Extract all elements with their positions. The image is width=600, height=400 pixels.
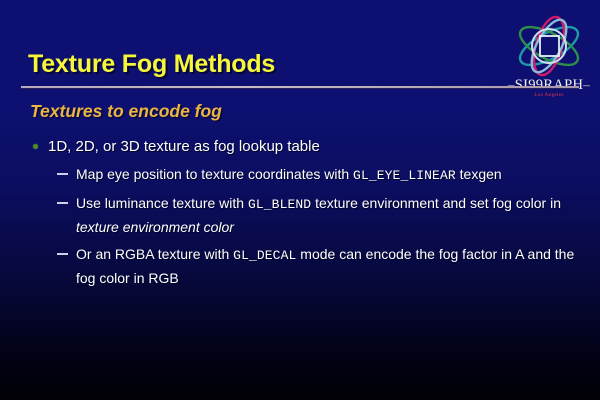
siggraph-rings-icon	[503, 12, 595, 84]
bullet-text: Map eye position to texture coordinates …	[76, 166, 353, 182]
siggraph-logo: –SI99RAPH– Los Angeles	[503, 12, 595, 104]
title-divider	[21, 86, 579, 88]
bullet-dash-icon	[57, 173, 68, 175]
emphasis-text: texture environment color	[76, 219, 234, 235]
logo-dash-right: –	[583, 77, 590, 92]
bullet-list: 1D, 2D, or 3D texture as fog lookup tabl…	[0, 136, 600, 294]
bullet-text: texture environment and set fog color in	[311, 195, 561, 211]
bullet-text: Or an RGBA texture with	[76, 246, 233, 262]
slide-title: Texture Fog Methods	[28, 50, 275, 79]
logo-sublabel: Los Angeles	[503, 93, 595, 99]
bullet-text: 1D, 2D, or 3D texture as fog lookup tabl…	[48, 138, 320, 155]
slide-subtitle: Textures to encode fog	[30, 101, 222, 122]
code-token: GL_BLEND	[248, 197, 311, 212]
bullet-dot-icon	[33, 144, 38, 149]
code-token: GL_DECAL	[233, 248, 296, 263]
bullet-item: Use luminance texture with GL_BLEND text…	[0, 192, 600, 238]
code-token: GL_EYE_LINEAR	[353, 168, 456, 183]
bullet-item: Map eye position to texture coordinates …	[0, 163, 600, 187]
bullet-item: 1D, 2D, or 3D texture as fog lookup tabl…	[0, 136, 600, 157]
slide-canvas: –SI99RAPH– Los Angeles Texture Fog Metho…	[0, 0, 600, 400]
logo-dash-left: –	[508, 77, 515, 92]
logo-wordmark-text: SI99RAPH	[515, 77, 583, 93]
bullet-dash-icon	[57, 253, 68, 255]
bullet-item: Or an RGBA texture with GL_DECAL mode ca…	[0, 243, 600, 289]
bullet-dash-icon	[57, 202, 68, 204]
bullet-text: texgen	[456, 166, 502, 182]
bullet-text: Use luminance texture with	[76, 195, 248, 211]
